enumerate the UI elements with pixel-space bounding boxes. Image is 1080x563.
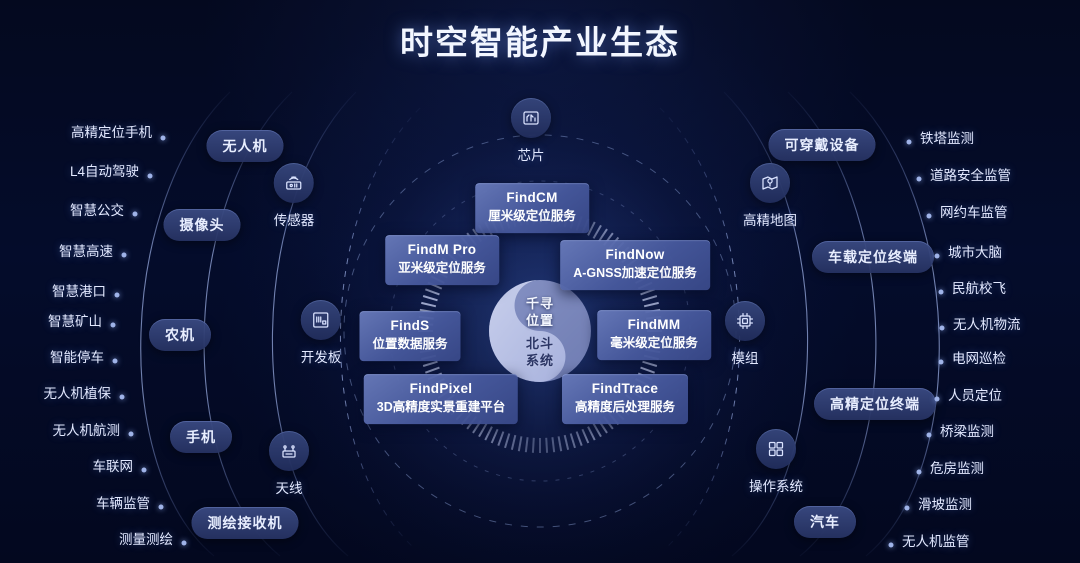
outer-label-dot (917, 177, 922, 182)
outer-label-smart-park[interactable]: 智能停车 (50, 346, 104, 366)
outer-label-dot (120, 395, 125, 400)
icon-node-circle (511, 98, 551, 138)
pill-wearable[interactable]: 可穿戴设备 (769, 129, 876, 161)
service-box-findtrace[interactable]: FindTrace高精度后处理服务 (562, 374, 688, 424)
icon-node-hdmap[interactable]: 高精地图 (743, 163, 797, 229)
service-name: FindMM (610, 317, 698, 334)
icon-node-label: 天线 (269, 477, 309, 497)
outer-label-dot (935, 397, 940, 402)
outer-label-dot (111, 323, 116, 328)
icon-node-label: 高精地图 (743, 209, 797, 229)
service-box-findcm[interactable]: FindCM厘米级定位服务 (475, 183, 589, 233)
outer-label-dot (113, 359, 118, 364)
pill-vehicleterm[interactable]: 车载定位终端 (812, 241, 934, 273)
icon-node-circle (725, 301, 765, 341)
outer-label-surveying[interactable]: 测量测绘 (119, 528, 173, 548)
outer-label-tower-mon[interactable]: 铁塔监测 (920, 127, 974, 147)
service-name: FindCM (488, 190, 576, 207)
outer-label-dot (917, 470, 922, 475)
outer-label-dot (927, 214, 932, 219)
icon-node-circle (301, 300, 341, 340)
service-name: FindNow (573, 247, 697, 264)
icon-node-circle (756, 429, 796, 469)
icon-node-devboard[interactable]: 开发板 (301, 300, 342, 366)
outer-label-road-safety[interactable]: 道路安全监管 (930, 164, 1011, 184)
outer-label-dot (182, 541, 187, 546)
icon-node-label: 操作系统 (749, 475, 803, 495)
map-pin-icon (759, 172, 781, 194)
pill-receiver[interactable]: 测绘接收机 (192, 507, 299, 539)
core-yin-yang: 千寻 位置 北斗 系统 (488, 279, 592, 383)
pill-phone[interactable]: 手机 (170, 421, 232, 453)
icon-node-label: 模组 (725, 347, 765, 367)
chip-icon (520, 107, 542, 129)
pill-agri[interactable]: 农机 (149, 319, 211, 351)
outer-label-uav-logi[interactable]: 无人机物流 (953, 313, 1021, 333)
outer-label-veh-super[interactable]: 车辆监管 (96, 492, 150, 512)
outer-label-person-loc[interactable]: 人员定位 (948, 384, 1002, 404)
outer-label-iov[interactable]: 车联网 (93, 455, 134, 475)
outer-label-dot (927, 433, 932, 438)
antenna-icon (278, 440, 300, 462)
icon-node-circle (274, 163, 314, 203)
outer-label-dot (939, 290, 944, 295)
icon-node-label: 芯片 (511, 144, 551, 164)
outer-label-city-brain[interactable]: 城市大脑 (948, 241, 1002, 261)
outer-label-flight-cal[interactable]: 民航校飞 (952, 277, 1006, 297)
service-desc: 高精度后处理服务 (575, 399, 675, 416)
outer-label-landslide[interactable]: 滑坡监测 (918, 493, 972, 513)
outer-label-l4-driving[interactable]: L4自动驾驶 (70, 160, 139, 180)
dev-board-icon (310, 309, 332, 331)
outer-label-danger-bldg[interactable]: 危房监测 (930, 457, 984, 477)
service-box-finds[interactable]: FindS位置数据服务 (359, 311, 460, 361)
icon-node-label: 传感器 (274, 209, 315, 229)
outer-label-dot (161, 136, 166, 141)
outer-label-smart-bus[interactable]: 智慧公交 (70, 199, 124, 219)
icon-node-chip[interactable]: 芯片 (511, 98, 551, 164)
page-title: 时空智能产业生态 (0, 16, 1080, 64)
service-name: FindTrace (575, 381, 675, 398)
icon-node-module[interactable]: 模组 (725, 301, 765, 367)
pill-uav[interactable]: 无人机 (207, 130, 284, 162)
outer-label-dot (122, 253, 127, 258)
outer-label-uav-super[interactable]: 无人机监管 (902, 530, 970, 550)
outer-label-dot (129, 432, 134, 437)
outer-label-dot (159, 505, 164, 510)
pill-camera[interactable]: 摄像头 (164, 209, 241, 241)
pill-car[interactable]: 汽车 (794, 506, 856, 538)
outer-label-dot (889, 543, 894, 548)
icon-node-label: 开发板 (301, 346, 342, 366)
outer-label-smart-mine[interactable]: 智慧矿山 (48, 310, 102, 330)
pill-hpterm[interactable]: 高精定位终端 (814, 388, 936, 420)
diagram-stage: 时空智能产业生态 千寻 位置 北斗 (0, 0, 1080, 563)
outer-label-dot (148, 174, 153, 179)
outer-label-dot (935, 254, 940, 259)
outer-label-dot (940, 326, 945, 331)
service-box-findmpro[interactable]: FindM Pro亚米级定位服务 (385, 235, 499, 285)
service-desc: 3D高精度实景重建平台 (377, 399, 505, 416)
service-box-findnow[interactable]: FindNowA-GNSS加速定位服务 (560, 240, 710, 290)
icon-node-circle (269, 431, 309, 471)
outer-label-dot (907, 140, 912, 145)
service-desc: 毫米级定位服务 (610, 335, 698, 352)
outer-label-dot (905, 506, 910, 511)
icon-node-circle (750, 163, 790, 203)
outer-label-smart-port[interactable]: 智慧港口 (52, 280, 106, 300)
outer-label-ride-hailing[interactable]: 网约车监管 (940, 201, 1008, 221)
grid-squares-icon (765, 438, 787, 460)
outer-label-dot (939, 360, 944, 365)
outer-label-uav-survey[interactable]: 无人机航测 (53, 419, 121, 439)
service-box-findmm[interactable]: FindMM毫米级定位服务 (597, 310, 711, 360)
service-desc: 位置数据服务 (372, 336, 447, 353)
service-name: FindS (372, 318, 447, 335)
service-box-findpixel[interactable]: FindPixel3D高精度实景重建平台 (364, 374, 518, 424)
outer-label-uav-plant[interactable]: 无人机植保 (44, 382, 112, 402)
icon-node-antenna[interactable]: 天线 (269, 431, 309, 497)
outer-label-dot (142, 468, 147, 473)
outer-label-bridge-mon[interactable]: 桥梁监测 (940, 420, 994, 440)
service-desc: 亚米级定位服务 (398, 260, 486, 277)
service-name: FindPixel (377, 381, 505, 398)
service-name: FindM Pro (398, 242, 486, 259)
core-label-qianxun: 千寻 位置 (526, 296, 554, 330)
outer-label-dot (133, 212, 138, 217)
outer-label-dot (115, 293, 120, 298)
service-desc: A-GNSS加速定位服务 (573, 265, 697, 282)
service-desc: 厘米级定位服务 (488, 208, 576, 225)
outer-label-hp-phone[interactable]: 高精定位手机 (71, 121, 152, 141)
outer-label-smart-hw[interactable]: 智慧高速 (59, 240, 113, 260)
icon-node-sensor[interactable]: 传感器 (274, 163, 315, 229)
outer-label-grid-insp[interactable]: 电网巡检 (952, 347, 1006, 367)
module-chip-icon (734, 310, 756, 332)
core-label-beidou: 北斗 系统 (526, 336, 554, 370)
icon-node-os[interactable]: 操作系统 (749, 429, 803, 495)
sensor-icon (283, 172, 305, 194)
